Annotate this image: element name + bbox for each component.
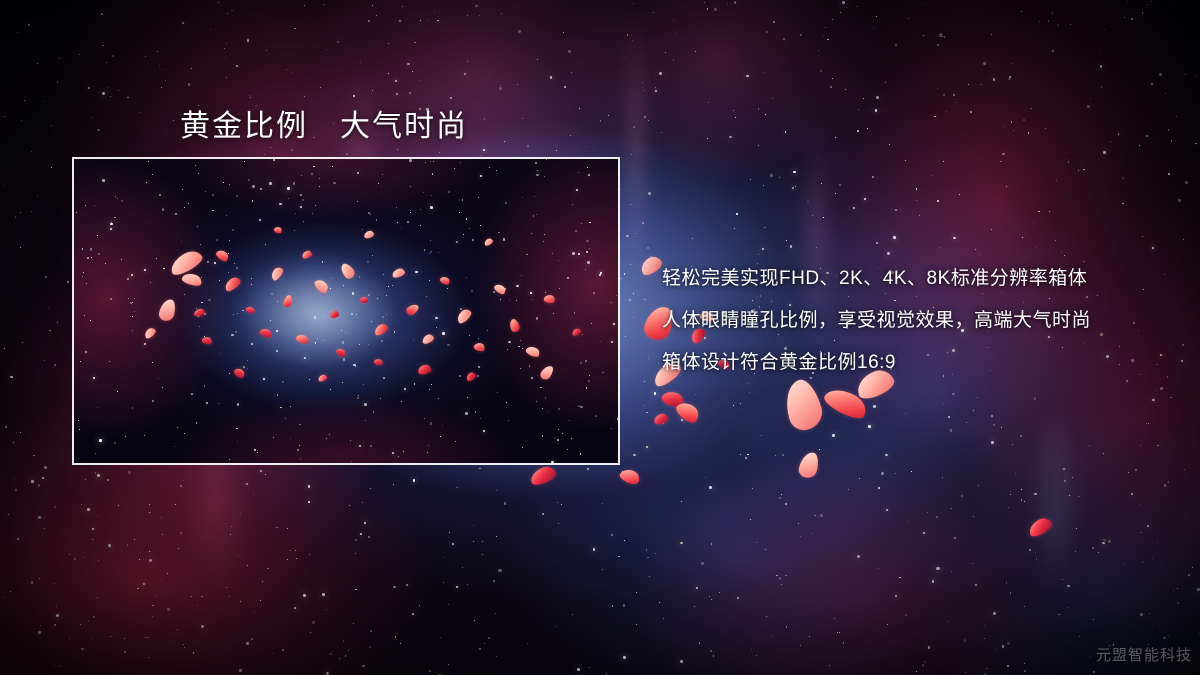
description-line-3: 箱体设计符合黄金比例16:9	[662, 342, 1172, 384]
panel-starfield	[74, 159, 618, 463]
watermark: 元盟智能科技	[1096, 644, 1192, 665]
page-title: 黄金比例 大气时尚	[180, 101, 468, 145]
feature-description: 轻松完美实现FHD、2K、4K、8K标准分辨率箱体 人体眼睛瞳孔比例，享受视觉效…	[662, 258, 1172, 384]
description-line-1: 轻松完美实现FHD、2K、4K、8K标准分辨率箱体	[662, 258, 1172, 300]
slide-canvas: 黄金比例 大气时尚 轻松完美实现FHD、2K、4K、8K标准分辨率箱体 人体眼睛…	[0, 0, 1200, 675]
image-frame-panel[interactable]	[72, 157, 620, 465]
description-line-2: 人体眼睛瞳孔比例，享受视觉效果，高端大气时尚	[662, 300, 1172, 342]
